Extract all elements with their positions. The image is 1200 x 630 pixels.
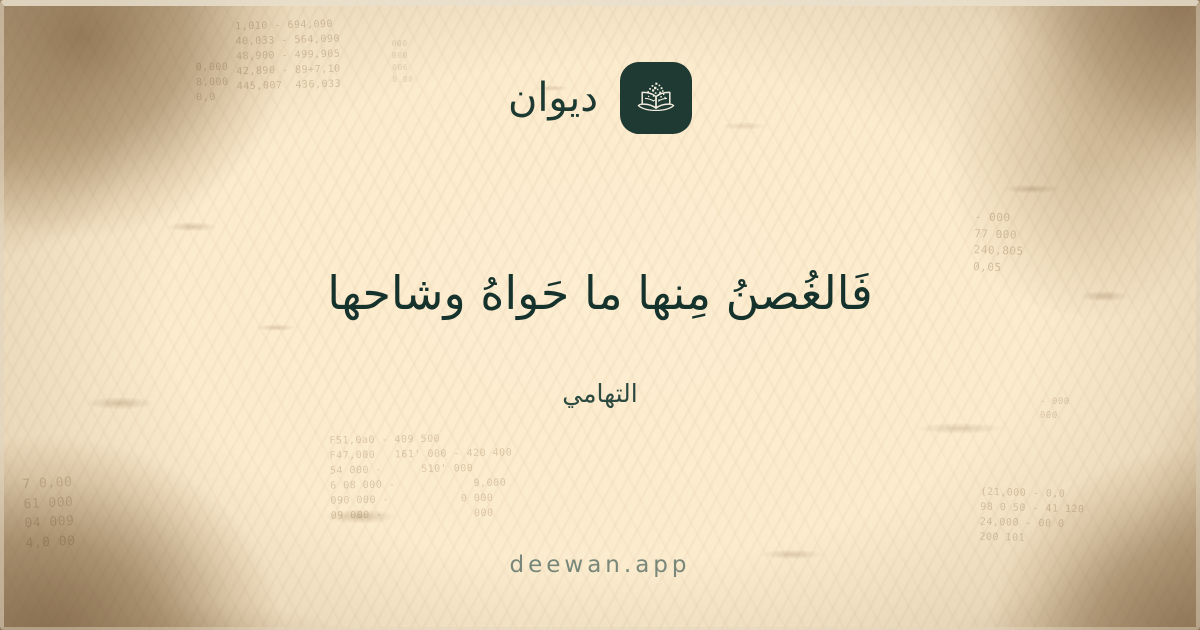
- quote-card: 1,010 - 694,090 40,033 - 564,090 48,900 …: [0, 0, 1200, 630]
- quote-block: فَالغُصنُ مِنها ما حَواهُ وشاحها التهامي: [0, 116, 1200, 552]
- quote-author: التهامي: [562, 379, 637, 408]
- site-watermark: deewan.app: [510, 552, 691, 578]
- brand-name: ديوان: [508, 78, 598, 118]
- quote-verse: فَالغُصنُ مِنها ما حَواهُ وشاحها: [287, 260, 913, 327]
- open-book-with-sparkles-icon: [633, 75, 679, 121]
- card-content: ديوان فَالغُصنُ مِنها ما حَواهُ وشاحها ا…: [0, 0, 1200, 630]
